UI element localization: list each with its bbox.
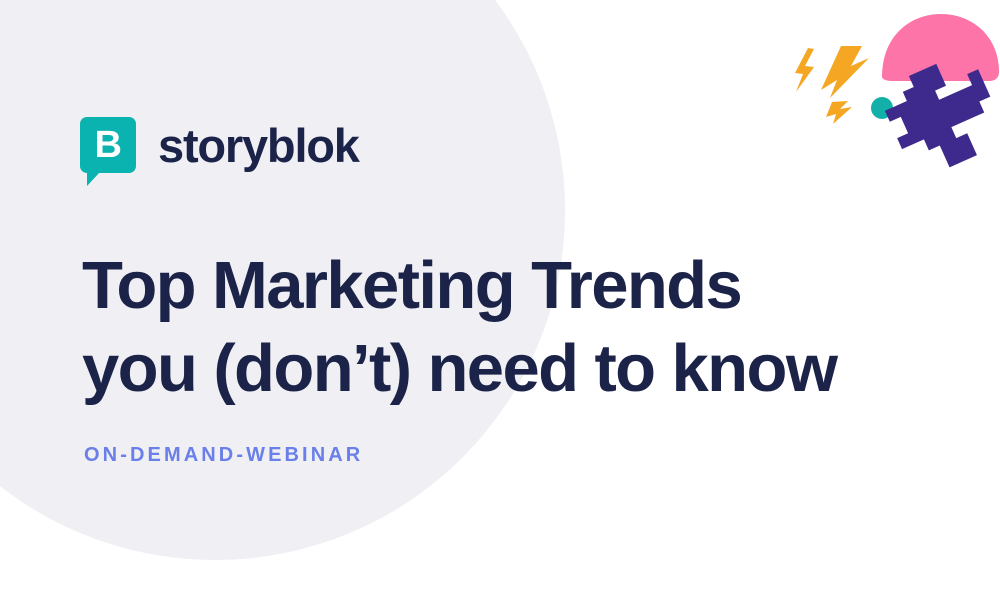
webinar-kicker-label: ON-DEMAND-WEBINAR	[84, 444, 363, 467]
headline-line-2: you (don’t) need to know	[82, 327, 836, 410]
lightning-bolt-tiny-icon	[826, 101, 852, 124]
storyblok-logo[interactable]: B storyblok	[80, 117, 359, 173]
lightning-bolt-small-icon	[795, 48, 814, 92]
decorative-shapes-cluster	[770, 8, 1000, 173]
pink-dome-shape	[882, 14, 999, 81]
logo-letter: B	[80, 117, 136, 173]
storyblok-wordmark: storyblok	[158, 122, 359, 169]
lightning-bolt-large-icon	[821, 46, 869, 98]
webinar-banner: B storyblok Top Marketing Trends you (do…	[0, 0, 1000, 598]
logo-bubble-tail-shape	[87, 172, 100, 186]
headline-line-1: Top Marketing Trends	[82, 244, 836, 327]
decorative-shapes-svg	[770, 8, 1000, 173]
storyblok-speech-bubble-icon: B	[80, 117, 136, 173]
page-title: Top Marketing Trends you (don’t) need to…	[82, 244, 836, 410]
